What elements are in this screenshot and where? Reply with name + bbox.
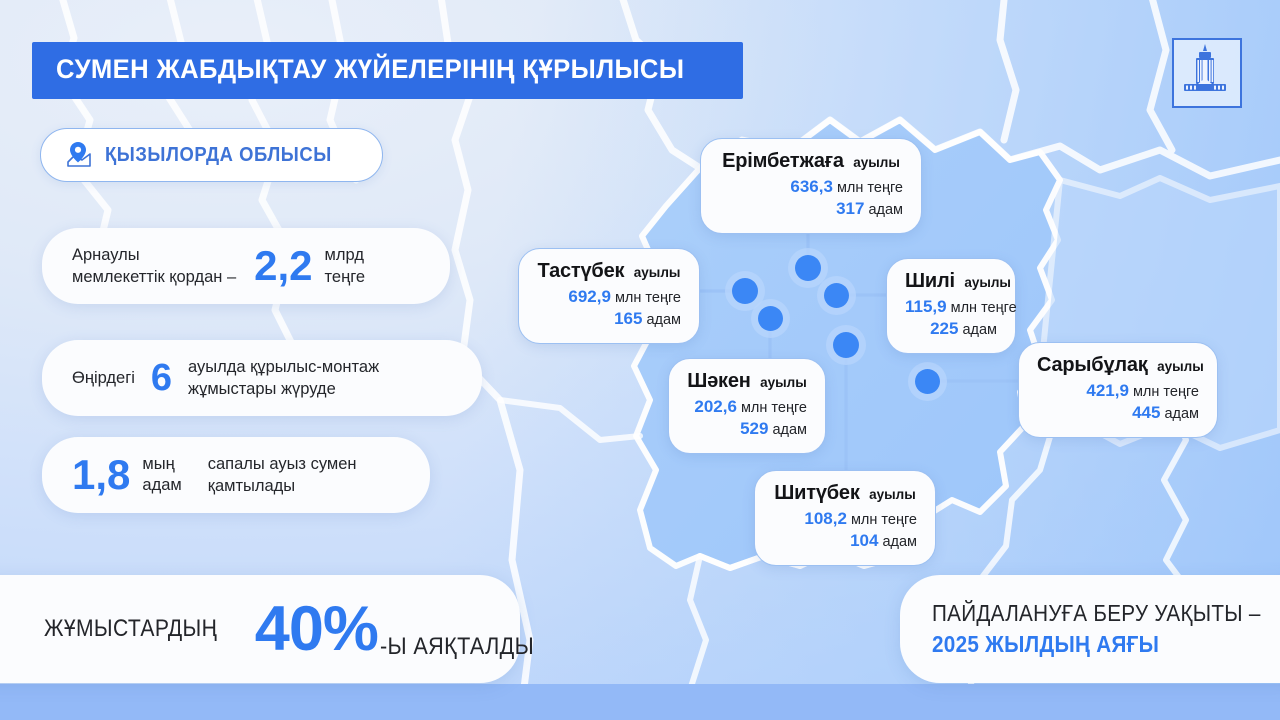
callout-tastubek[interactable]: Тастүбек ауылы 692,9млн теңге 165адам <box>518 248 700 344</box>
stat-people-line2: қамтылады <box>208 475 357 497</box>
callout-village-name: Шилі <box>905 270 955 292</box>
map-dot-sarybulak[interactable] <box>915 369 940 394</box>
stat-card-fund: Арнаулы мемлекеттік қордан – 2,2 млрд те… <box>42 228 450 304</box>
callout-people-unit: адам <box>962 322 997 338</box>
callout-people-row: 529адам <box>687 418 807 440</box>
stat-villages-line1: ауылда құрылыс-монтаж <box>188 356 379 378</box>
callout-name-row: Тастүбек ауылы <box>537 260 681 283</box>
stat-fund-unit-line1: млрд <box>325 244 366 266</box>
stat-people-unit-line1: мың <box>142 454 181 475</box>
map-dot-erimbetzhaga[interactable] <box>795 255 821 281</box>
map-dot-shili[interactable] <box>824 283 849 308</box>
callout-village-suffix: ауылы <box>1157 359 1204 374</box>
callout-people-unit: адам <box>868 202 903 218</box>
callout-name-row: Ерімбетжаға ауылы <box>719 150 903 173</box>
callout-amount: 115,9 <box>905 297 947 316</box>
callout-village-name: Тастүбек <box>538 260 625 282</box>
government-building-icon <box>1172 38 1242 108</box>
callout-people-row: 165адам <box>537 308 681 330</box>
callout-amount-row: 636,3млн теңге <box>719 176 903 198</box>
callout-amount: 108,2 <box>804 509 847 528</box>
callout-erimbetzhaga[interactable]: Ерімбетжаға ауылы 636,3млн теңге 317адам <box>700 138 922 234</box>
callout-amount-row: 692,9млн теңге <box>537 286 681 308</box>
callout-people-unit: адам <box>882 534 917 550</box>
stat-fund-value: 2,2 <box>254 245 312 287</box>
callout-name-row: Шилі ауылы <box>905 270 997 293</box>
callout-name-row: Шәкен ауылы <box>687 370 807 393</box>
callout-name-row: Сарыбұлақ ауылы <box>1037 354 1199 377</box>
callout-people: 529 <box>740 419 768 438</box>
page-title-text: СУМЕН ЖАБДЫҚТАУ ЖҮЙЕЛЕРІНІҢ ҚҰРЫЛЫСЫ <box>56 56 684 83</box>
stat-people-unit: мың адам <box>142 454 181 497</box>
stat-villages-prefix: Өңірдегі <box>72 367 135 389</box>
callout-people-row: 317адам <box>719 198 903 220</box>
callout-village-name: Сарыбұлақ <box>1037 354 1148 376</box>
stat-fund-line2: мемлекеттік қордан – <box>72 266 236 288</box>
callout-amount: 692,9 <box>568 287 611 306</box>
banner-progress-percent: 40% <box>255 601 378 658</box>
callout-sarybulak[interactable]: Сарыбұлақ ауылы 421,9млн теңге 445адам <box>1018 342 1218 438</box>
stat-villages-line2: жұмыстары жүруде <box>188 378 379 400</box>
callout-amount: 421,9 <box>1086 381 1129 400</box>
callout-amount: 202,6 <box>694 397 737 416</box>
region-badge[interactable]: ҚЫЗЫЛОРДА ОБЛЫСЫ <box>40 128 383 182</box>
callout-shitubek[interactable]: Шитүбек ауылы 108,2млн теңге 104адам <box>754 470 936 566</box>
callout-village-suffix: ауылы <box>869 487 916 502</box>
callout-people: 165 <box>614 309 642 328</box>
callout-people-unit: адам <box>772 422 807 438</box>
callout-village-name: Шәкен <box>687 370 750 392</box>
callout-village-suffix: ауылы <box>760 375 807 390</box>
stat-fund-unit: млрд теңге <box>325 244 366 289</box>
bottom-color-strip <box>0 684 1280 720</box>
stat-fund-unit-line2: теңге <box>325 266 366 288</box>
callout-amount-unit: млн теңге <box>951 300 1017 316</box>
callout-amount-unit: млн теңге <box>1133 384 1199 400</box>
stat-fund-text: Арнаулы мемлекеттік қордан – <box>72 244 236 289</box>
callout-amount-row: 202,6млн теңге <box>687 396 807 418</box>
region-badge-label: ҚЫЗЫЛОРДА ОБЛЫСЫ <box>105 144 332 167</box>
callout-people-row: 445адам <box>1037 402 1199 424</box>
callout-village-suffix: ауылы <box>964 275 1011 290</box>
banner-progress-suffix: -Ы АЯҚТАЛДЫ <box>380 633 534 661</box>
callout-people: 225 <box>930 319 958 338</box>
callout-shili[interactable]: Шилі ауылы 115,9млн теңге 225адам <box>886 258 1016 354</box>
stat-people-unit-line2: адам <box>142 475 181 496</box>
callout-village-name: Ерімбетжаға <box>722 150 844 172</box>
callout-amount-unit: млн теңге <box>615 290 681 306</box>
callout-village-suffix: ауылы <box>634 265 681 280</box>
stat-villages-value: 6 <box>151 359 172 397</box>
stat-people-text: сапалы ауыз сумен қамтылады <box>208 453 357 498</box>
infographic-canvas: СУМЕН ЖАБДЫҚТАУ ЖҮЙЕЛЕРІНІҢ ҚҰРЫЛЫСЫ ҚЫЗ… <box>0 0 1280 720</box>
banner-deadline-line1: ПАЙДАЛАНУҒА БЕРУ УАҚЫТЫ – <box>932 600 1261 627</box>
callout-people-unit: адам <box>1164 406 1199 422</box>
stat-villages-text: ауылда құрылыс-монтаж жұмыстары жүруде <box>188 356 379 401</box>
callout-amount: 636,3 <box>790 177 833 196</box>
banner-deadline-line2: 2025 ЖЫЛДЫҢ АЯҒЫ <box>932 631 1159 658</box>
stat-fund-line1: Арнаулы <box>72 244 236 266</box>
stat-card-villages: Өңірдегі 6 ауылда құрылыс-монтаж жұмыста… <box>42 340 482 416</box>
page-title: СУМЕН ЖАБДЫҚТАУ ЖҮЙЕЛЕРІНІҢ ҚҰРЫЛЫСЫ <box>32 42 743 99</box>
callout-name-row: Шитүбек ауылы <box>773 482 917 505</box>
callout-amount-unit: млн теңге <box>851 512 917 528</box>
callout-amount-unit: млн теңге <box>837 180 903 196</box>
callout-amount-row: 108,2млн теңге <box>773 508 917 530</box>
map-dot-tastubek[interactable] <box>732 278 758 304</box>
callout-people-unit: адам <box>646 312 681 328</box>
callout-shaken[interactable]: Шәкен ауылы 202,6млн теңге 529адам <box>668 358 826 454</box>
stat-people-value: 1,8 <box>72 454 130 496</box>
callout-people: 317 <box>836 199 864 218</box>
callout-amount-row: 421,9млн теңге <box>1037 380 1199 402</box>
map-dot-shitubek[interactable] <box>833 332 859 358</box>
callout-village-name: Шитүбек <box>774 482 859 504</box>
banner-progress: ЖҰМЫСТАРДЫҢ 40% -Ы АЯҚТАЛДЫ <box>0 575 520 683</box>
callout-people-row: 225адам <box>905 318 997 340</box>
callout-amount-row: 115,9млн теңге <box>905 296 997 318</box>
banner-progress-prefix: ЖҰМЫСТАРДЫҢ <box>44 615 217 643</box>
callout-village-suffix: ауылы <box>853 155 900 170</box>
callout-people: 104 <box>850 531 878 550</box>
stat-card-people: 1,8 мың адам сапалы ауыз сумен қамтылады <box>42 437 430 513</box>
callout-amount-unit: млн теңге <box>741 400 807 416</box>
banner-deadline: ПАЙДАЛАНУҒА БЕРУ УАҚЫТЫ – 2025 ЖЫЛДЫҢ АЯ… <box>900 575 1280 683</box>
map-pin-icon <box>63 141 93 169</box>
callout-people-row: 104адам <box>773 530 917 552</box>
callout-people: 445 <box>1132 403 1160 422</box>
stat-people-line1: сапалы ауыз сумен <box>208 453 357 475</box>
map-dot-shaken[interactable] <box>758 306 783 331</box>
